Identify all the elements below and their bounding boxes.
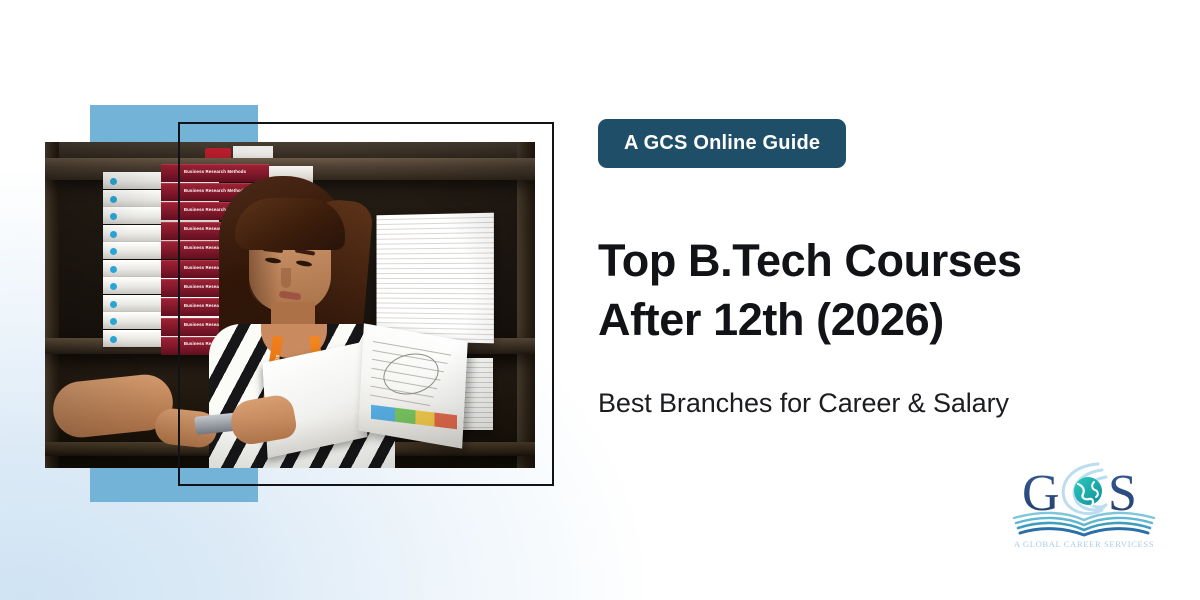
page-title: Top B.Tech Courses After 12th (2026) xyxy=(598,232,1138,350)
logo-tagline: A GLOBAL CAREER SERVICESS xyxy=(1014,539,1154,549)
guide-badge: A GCS Online Guide xyxy=(598,119,846,168)
page-title-line-2: After 12th (2026) xyxy=(598,291,1138,350)
page-subtitle: Best Branches for Career & Salary xyxy=(598,388,1158,419)
page-title-line-1: Top B.Tech Courses xyxy=(598,232,1138,291)
guide-badge-label: A GCS Online Guide xyxy=(624,132,820,155)
logo-globe-icon xyxy=(1074,477,1102,505)
banner-canvas: Business Research MethodsBusiness Resear… xyxy=(0,0,1200,600)
photo-outline-frame xyxy=(178,122,554,486)
gcs-logo: G S A GLOBAL CAREER SERVICESS xyxy=(1008,458,1160,550)
